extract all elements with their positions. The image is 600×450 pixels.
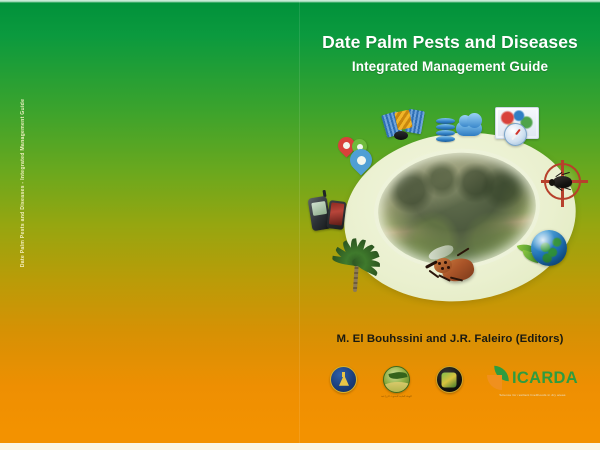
logo-icarda: ICARDA Science for resilient livelihoods… (487, 366, 578, 397)
page-title: Date Palm Pests and Diseases (300, 32, 600, 52)
cover-illustration (308, 105, 596, 320)
bottom-edge-strip (0, 443, 600, 450)
red-palm-weevil-icon (426, 245, 490, 297)
compass-icon (504, 123, 527, 146)
date-palm-tree-icon (334, 233, 386, 295)
book-cover: Date Palm Pests and Diseases - Integrate… (0, 0, 600, 450)
editors-line: M. El Bouhssini and J.R. Faleiro (Editor… (300, 333, 600, 345)
database-cloud-icon (436, 111, 484, 145)
smartphone-icon (326, 200, 346, 230)
green-circle-icon (383, 366, 410, 393)
logo-green-seal: الهيئة العامة للبحوث الزراعية (381, 366, 412, 398)
title-block: Date Palm Pests and Diseases Integrated … (300, 32, 600, 74)
logo-research-seal (330, 366, 357, 393)
beetle-crosshair-icon (539, 159, 587, 207)
front-cover-panel: Date Palm Pests and Diseases Integrated … (300, 0, 600, 450)
dark-seal-icon (436, 366, 463, 393)
logo-dark-gold-seal (436, 366, 463, 393)
logo-green-seal-caption: الهيئة العامة للبحوث الزراعية (381, 395, 412, 398)
icarda-leaf-icon (487, 366, 509, 390)
icarda-tagline: Science for resilient livelihoods in dry… (499, 393, 565, 397)
map-pins-group (334, 137, 394, 183)
flask-seal-icon (330, 366, 357, 393)
globe-leaf-icon (518, 227, 572, 271)
publisher-logo-row: الهيئة العامة للبحوث الزراعية ICARDA Sci… (330, 366, 578, 414)
gis-map-screen-icon (490, 107, 546, 147)
book-spine-panel: Date Palm Pests and Diseases - Integrate… (0, 0, 300, 450)
spine-title-text: Date Palm Pests and Diseases - Integrate… (20, 78, 26, 288)
icarda-wordmark: ICARDA (512, 370, 578, 387)
page-subtitle: Integrated Management Guide (300, 59, 600, 74)
